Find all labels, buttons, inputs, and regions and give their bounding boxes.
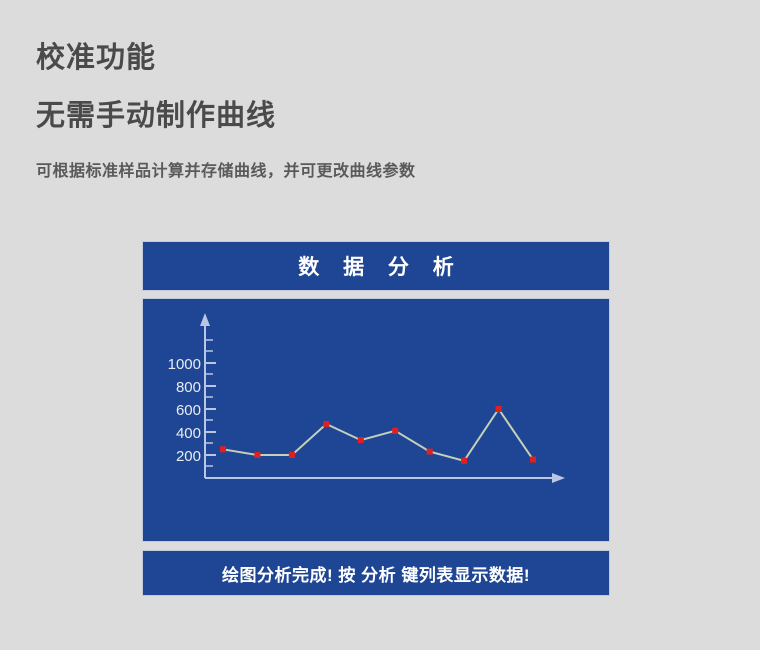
data-point-marker — [496, 406, 502, 412]
data-point-marker — [392, 428, 398, 434]
y-axis-major-ticks — [205, 363, 216, 455]
panel-status-bar: 绘图分析完成! 按 分析 键列表显示数据! — [142, 550, 610, 596]
x-axis — [205, 473, 565, 483]
data-analysis-panel: 数 据 分 析 — [142, 241, 610, 596]
y-tick-label-400: 400 — [176, 425, 201, 442]
series-line — [223, 409, 533, 461]
page-title: 校准功能 — [36, 40, 696, 76]
data-point-marker — [323, 421, 329, 427]
data-point-marker — [530, 457, 536, 463]
panel-header: 数 据 分 析 — [142, 241, 610, 291]
page-subtitle: 无需手动制作曲线 — [36, 98, 696, 134]
data-point-marker — [254, 452, 260, 458]
data-point-marker — [358, 437, 364, 443]
status-message: 绘图分析完成! 按 分析 键列表显示数据! — [222, 561, 530, 586]
y-axis — [200, 313, 210, 478]
y-tick-label-1000: 1000 — [168, 356, 201, 373]
promo-heading-block: 校准功能 无需手动制作曲线 可根据标准样品计算并存储曲线，并可更改曲线参数 — [36, 40, 696, 181]
y-tick-label-200: 200 — [176, 448, 201, 465]
page-description: 可根据标准样品计算并存储曲线，并可更改曲线参数 — [36, 157, 696, 181]
line-chart: 1000 800 600 400 200 — [143, 299, 609, 541]
y-tick-label-800: 800 — [176, 379, 201, 396]
data-point-marker — [427, 449, 433, 455]
y-axis-minor-ticks — [205, 340, 213, 466]
data-point-marker — [220, 446, 226, 452]
panel-header-title: 数 据 分 析 — [289, 251, 463, 281]
data-point-marker — [461, 458, 467, 464]
chart-area: 1000 800 600 400 200 — [142, 298, 610, 542]
data-point-marker — [289, 452, 295, 458]
y-tick-label-600: 600 — [176, 402, 201, 419]
